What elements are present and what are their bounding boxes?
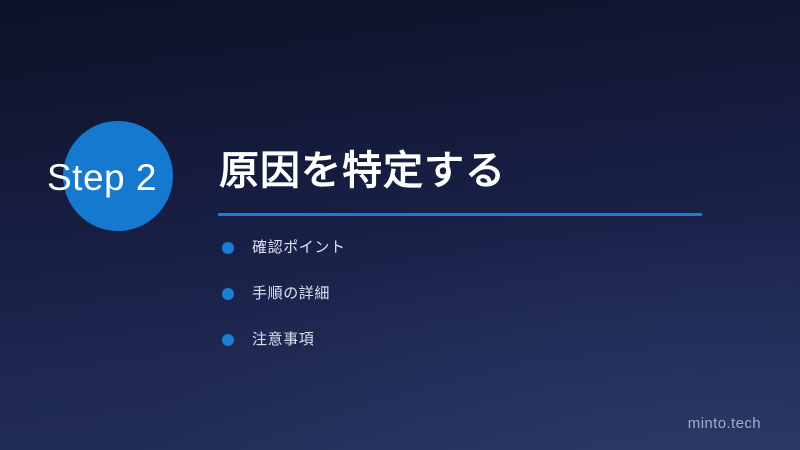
list-item: 手順の詳細 bbox=[218, 282, 698, 328]
slide-canvas: Step 2 原因を特定する 確認ポイント 手順の詳細 注意事項 minto.t… bbox=[0, 0, 800, 450]
bullet-dot-icon bbox=[222, 288, 234, 300]
page-title: 原因を特定する bbox=[219, 148, 506, 194]
footer-watermark: minto.tech bbox=[688, 414, 761, 434]
bullet-label: 確認ポイント bbox=[252, 236, 346, 260]
bullet-dot-icon bbox=[222, 334, 234, 346]
bullet-list: 確認ポイント 手順の詳細 注意事項 bbox=[218, 236, 698, 374]
step-label: Step 2 bbox=[47, 158, 157, 198]
bullet-label: 手順の詳細 bbox=[252, 282, 330, 306]
list-item: 確認ポイント bbox=[218, 236, 698, 282]
title-divider bbox=[218, 213, 702, 216]
bullet-label: 注意事項 bbox=[252, 328, 314, 352]
slide-content: Step 2 原因を特定する 確認ポイント 手順の詳細 注意事項 minto.t… bbox=[0, 0, 800, 450]
bullet-dot-icon bbox=[222, 242, 234, 254]
list-item: 注意事項 bbox=[218, 328, 698, 374]
